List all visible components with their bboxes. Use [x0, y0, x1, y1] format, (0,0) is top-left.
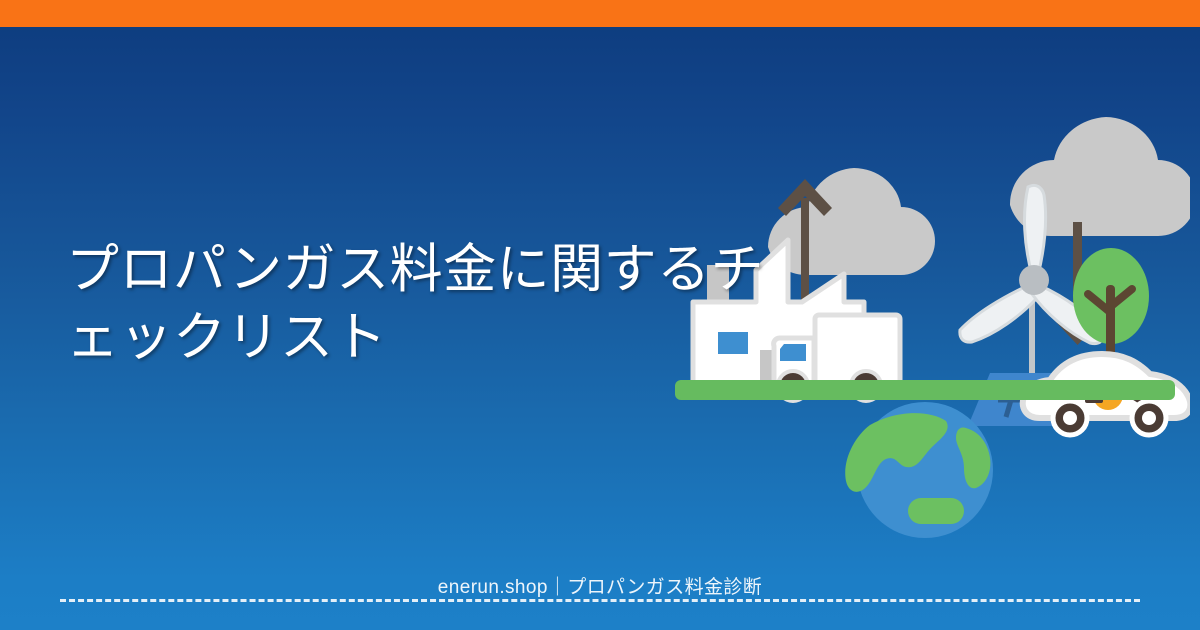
balance-beam — [675, 380, 1175, 400]
accent-top-bar — [0, 0, 1200, 27]
footer-divider — [60, 599, 1140, 602]
footer-branding: enerun.shop｜プロパンガス料金診断 — [0, 572, 1200, 599]
earth-globe-icon — [845, 402, 993, 538]
truck-windshield — [780, 344, 806, 361]
emission-cloud-icon — [768, 168, 935, 275]
slide-canvas: プロパンガス料金に関するチェックリスト enerun.shop｜プロパンガス料金… — [0, 0, 1200, 630]
page-title: プロパンガス料金に関するチェックリスト — [66, 236, 766, 372]
